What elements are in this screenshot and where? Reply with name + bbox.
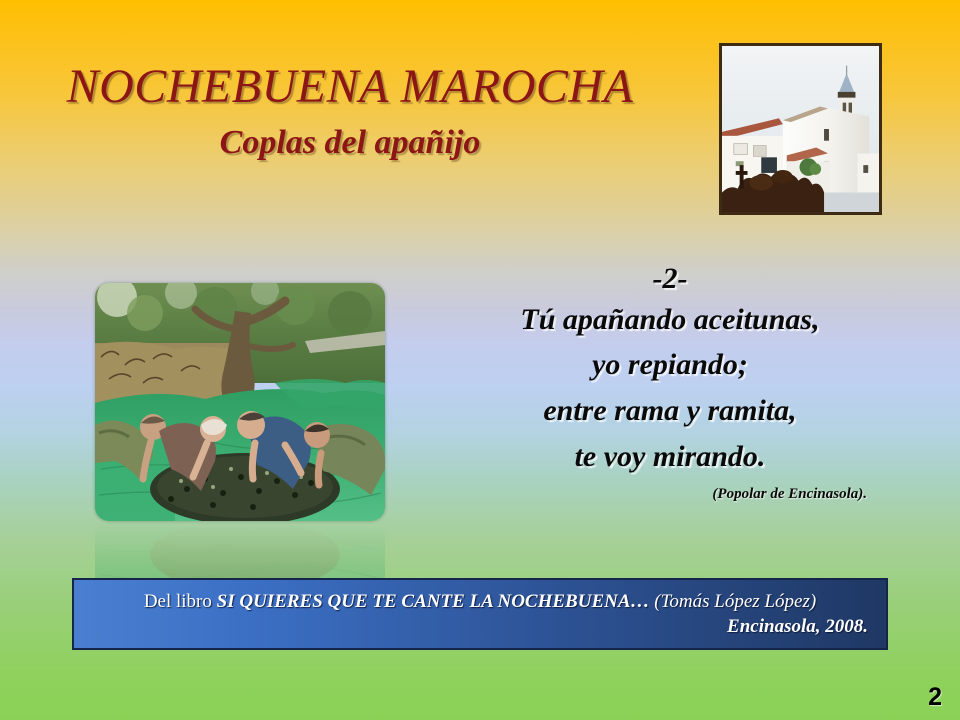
poem-line-4: te voy mirando. <box>455 434 885 480</box>
olive-harvest-photo <box>95 283 385 521</box>
banner-place-year: Encinasola, 2008. <box>92 614 868 640</box>
page-subtitle: Coplas del apañijo <box>0 124 700 162</box>
poem-source: (Popolar de Encinasola). <box>455 486 885 503</box>
poem-line-1: Tú apañando aceitunas, <box>455 297 885 343</box>
page-title: NOCHEBUENA MAROCHA <box>0 62 700 112</box>
poem-block: -2- Tú apañando aceitunas, yo repiando; … <box>455 262 885 503</box>
poem-line-2: yo repiando; <box>455 342 885 388</box>
banner-book-title: SI QUIERES QUE TE CANTE LA NOCHEBUENA… <box>217 591 650 612</box>
olive-photo-reflection <box>95 523 385 581</box>
olive-reflection-image <box>95 523 385 581</box>
page-number: 2 <box>928 683 942 712</box>
poem-number: -2- <box>455 262 885 297</box>
source-banner: Del libro SI QUIERES QUE TE CANTE LA NOC… <box>72 578 888 650</box>
banner-author: (Tomás López López) <box>650 591 817 612</box>
church-photo <box>719 43 882 215</box>
banner-citation-line: Del libro SI QUIERES QUE TE CANTE LA NOC… <box>92 590 868 614</box>
poem-line-3: entre rama y ramita, <box>455 388 885 434</box>
olive-harvest-image <box>95 283 385 521</box>
title-block: NOCHEBUENA MAROCHA Coplas del apañijo <box>0 62 700 162</box>
slide: NOCHEBUENA MAROCHA Coplas del apañijo <box>0 0 960 720</box>
church-photo-image <box>722 46 879 212</box>
olive-harvest-photo-wrap <box>95 283 385 521</box>
banner-prefix: Del libro <box>144 591 217 612</box>
